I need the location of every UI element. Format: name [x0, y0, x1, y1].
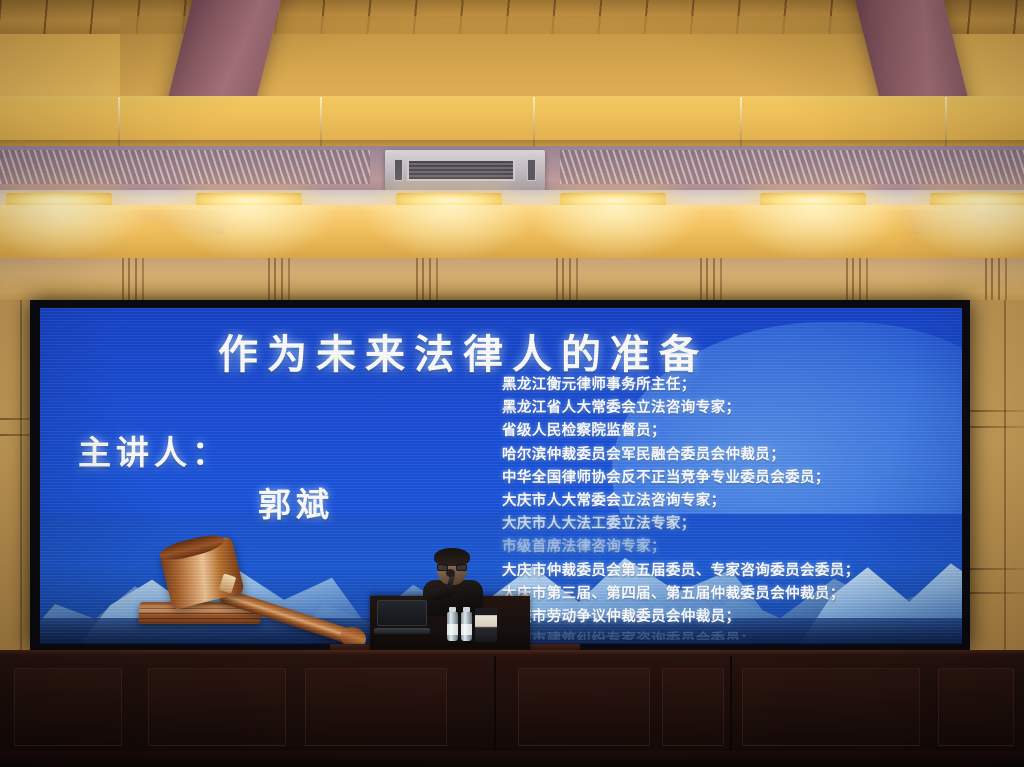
linear-vent-left-icon [0, 150, 370, 184]
glass-clerestory-band [0, 96, 1024, 146]
linear-vent-right-icon [560, 150, 1024, 184]
reeded-pilaster [700, 258, 726, 300]
laptop-screen [377, 600, 427, 626]
credential-item: 大庆市人大法工委立法专家； [502, 513, 954, 536]
water-bottle-icon [447, 612, 458, 641]
ceiling [0, 0, 1024, 300]
water-bottle-icon [461, 612, 472, 641]
credential-item: 黑龙江省人大常委会立法咨询专家； [502, 397, 954, 420]
reeded-pilaster [985, 258, 1011, 300]
speaker-label: 主讲人： [78, 426, 230, 474]
credential-item: 大庆市第三届、第四届、第五届仲裁委员会仲裁员； [502, 583, 954, 606]
speaker-name: 郭斌 [258, 478, 334, 526]
reeded-pilaster [268, 258, 294, 300]
credential-item: 大庆市劳动争议仲裁委员会仲裁员； [502, 606, 954, 629]
gavel-handle-end [338, 624, 369, 644]
credential-item: 中华全国律师协会反不正当竞争专业委员会委员； [502, 467, 954, 490]
stage-front-panelling [0, 650, 1024, 767]
light-glow-wash [0, 205, 1024, 261]
ac-grille [407, 159, 515, 181]
led-wall-screen[interactable]: 作为未来法律人的准备 主讲人： 郭斌 黑龙江衡元律师事务所主任； 黑龙江省人大常… [40, 308, 962, 644]
stage-panel [148, 668, 286, 746]
reeded-pilaster [846, 258, 872, 300]
stage-panel [305, 668, 447, 746]
reeded-pilaster [122, 258, 148, 300]
credential-item: 哈尔滨仲裁委员会军民融合委员会仲裁员； [502, 444, 954, 467]
slide-title: 作为未来法律人的准备 [218, 322, 708, 380]
stage-panel [662, 668, 724, 746]
laptop-icon [374, 600, 430, 634]
reeded-pilaster [556, 258, 582, 300]
credential-item: 大庆市仲裁委员会第五届委员、专家咨询委员会委员； [502, 560, 954, 583]
side-wall-right [964, 300, 1024, 660]
vacuum-flask-icon [475, 608, 497, 642]
ac-louver-right [527, 159, 536, 181]
stage-top-edge [0, 650, 1024, 655]
credential-list: 黑龙江衡元律师事务所主任； 黑龙江省人大常委会立法咨询专家； 省级人民检察院监督… [502, 374, 954, 640]
stage-panel [742, 668, 920, 746]
stage-panel [14, 668, 122, 746]
cassette-ac-unit-icon [385, 150, 545, 190]
stage-panel [938, 668, 1014, 746]
credential-item: 大庆市人大常委会立法咨询专家； [502, 490, 954, 513]
stage-base-trim [0, 751, 1024, 767]
credential-item-cut-off: 大庆市建筑纠纷专家咨询委员会委员； [502, 629, 954, 640]
reeded-pilaster [416, 258, 442, 300]
microphone-head [446, 569, 455, 577]
credential-item: 黑龙江衡元律师事务所主任； [502, 374, 954, 397]
laptop-base [374, 628, 430, 634]
conference-hall-photo: 作为未来法律人的准备 主讲人： 郭斌 黑龙江衡元律师事务所主任； 黑龙江省人大常… [0, 0, 1024, 767]
credential-item: 省级人民检察院监督员； [502, 420, 954, 443]
judge-gavel-icon [135, 522, 395, 640]
credential-item: 市级首席法律咨询专家； [502, 536, 954, 559]
stage-panel [518, 668, 650, 746]
ac-louver-left [394, 159, 403, 181]
wall-seam-right [1004, 300, 1006, 660]
wall-seam-left [20, 300, 22, 660]
